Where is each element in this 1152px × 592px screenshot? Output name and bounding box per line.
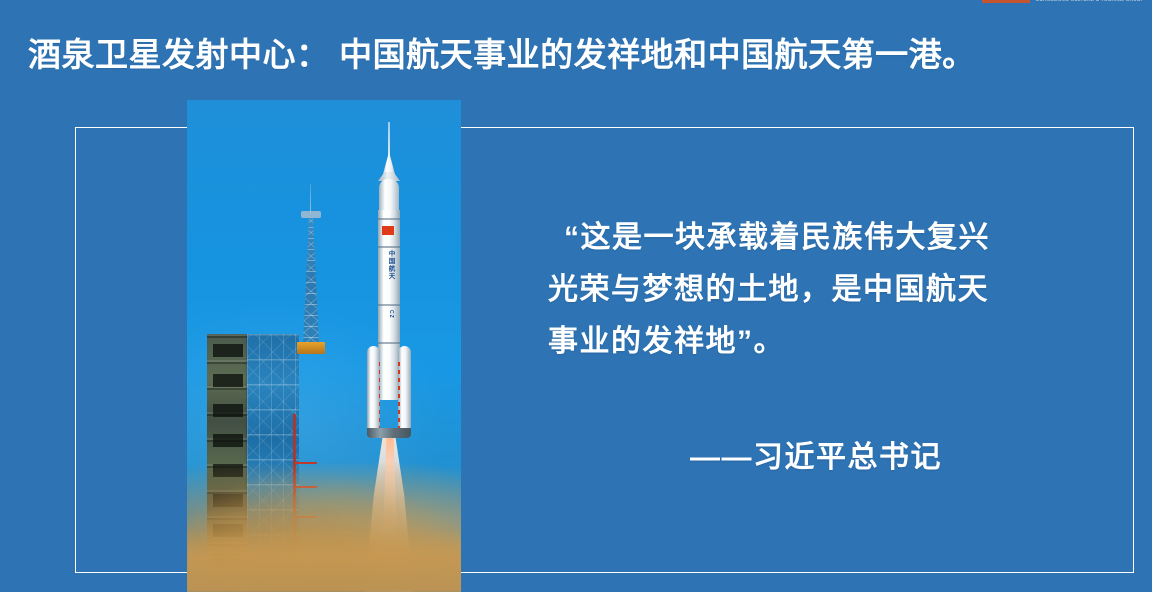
organisation-logo: GUANGDONG CULTURE & TOURISM GROUP bbox=[982, 0, 1144, 7]
lightning-mast bbox=[297, 216, 323, 344]
quote-line-1: “这是一块承载着民族伟大复兴 bbox=[548, 212, 1018, 264]
mast-base bbox=[297, 342, 325, 354]
rocket-body-text: 中国航天 bbox=[385, 250, 394, 280]
logo-caption: GUANGDONG CULTURE & TOURISM GROUP bbox=[1036, 0, 1144, 2]
escape-tower-spike-icon bbox=[388, 122, 390, 156]
booster-stripe-left bbox=[379, 362, 381, 428]
ground-dust-base bbox=[187, 528, 461, 592]
quote-attribution: ——习近平总书记 bbox=[690, 436, 942, 480]
booster-stripe-right bbox=[398, 362, 400, 428]
launch-vehicle: 中国航天 CZ bbox=[365, 122, 413, 472]
logo-bar-icon bbox=[982, 0, 1030, 3]
rocket-seam-2 bbox=[378, 246, 400, 248]
quote-line-3: 事业的发祥地”。 bbox=[548, 316, 1018, 368]
chinese-flag-icon bbox=[382, 226, 394, 235]
rocket-seam-4 bbox=[378, 342, 400, 344]
engine-nozzles bbox=[367, 428, 411, 438]
pull-quote: “这是一块承载着民族伟大复兴 光荣与梦想的土地，是中国航天 事业的发祥地”。 bbox=[548, 212, 1018, 368]
crew-capsule-fairing bbox=[379, 179, 399, 213]
rocket-launch-photo: 中国航天 CZ bbox=[187, 100, 461, 592]
slide-root: GUANGDONG CULTURE & TOURISM GROUP 酒泉卫星发射… bbox=[0, 0, 1152, 592]
rocket-seam-1 bbox=[378, 218, 400, 220]
mast-lattice bbox=[303, 216, 319, 344]
quote-line-2: 光荣与梦想的土地，是中国航天 bbox=[548, 264, 1018, 316]
rocket-seam-3 bbox=[378, 304, 400, 306]
mast-antenna-icon bbox=[310, 184, 311, 214]
page-title: 酒泉卫星发射中心： 中国航天事业的发祥地和中国航天第一港。 bbox=[28, 34, 976, 76]
booster-right bbox=[398, 346, 411, 432]
rocket-body-text-secondary: CZ bbox=[385, 310, 394, 319]
